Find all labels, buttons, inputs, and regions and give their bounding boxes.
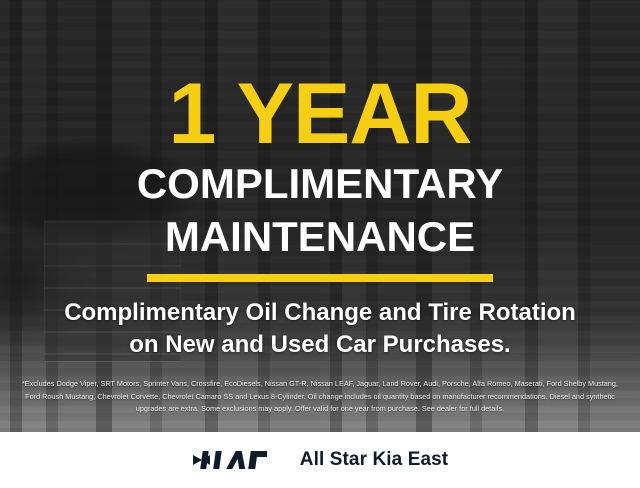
offer-description: Complimentary Oil Change and Tire Rotati… — [64, 297, 576, 359]
headline-complimentary: COMPLIMENTARY — [137, 162, 503, 205]
kia-logo[interactable] — [192, 449, 278, 471]
yellow-divider-bar — [147, 274, 493, 282]
footer-bar: All Star Kia East — [0, 432, 640, 488]
headline-maintenance: MAINTENANCE — [165, 215, 475, 258]
dealer-name: All Star Kia East — [300, 449, 448, 471]
promotional-banner: 1 YEAR COMPLIMENTARY MAINTENANCE Complim… — [0, 0, 640, 488]
offer-line-1: Complimentary Oil Change and Tire Rotati… — [64, 297, 576, 328]
headline-year: 1 YEAR — [168, 78, 471, 152]
offer-line-2: on New and Used Car Purchases. — [64, 329, 576, 360]
disclaimer-text: *Excludes Dodge Viper, SRT Motors, Sprin… — [14, 378, 626, 416]
